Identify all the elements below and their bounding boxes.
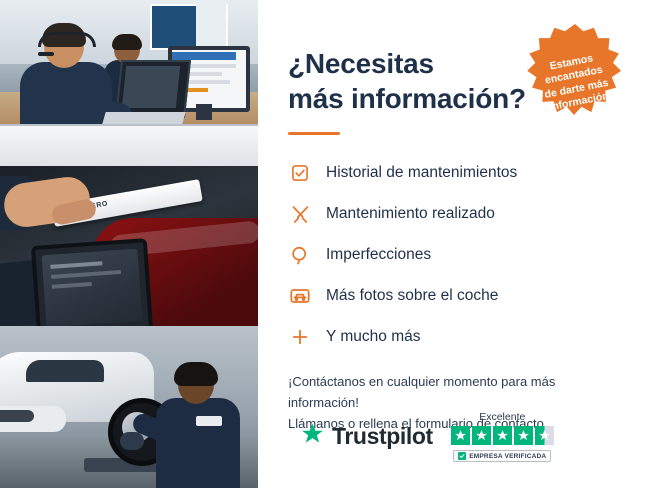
star-filled-2	[472, 426, 491, 445]
star-filled-3	[493, 426, 512, 445]
tablet-inspection-photo: AUTOHERO	[0, 166, 258, 326]
verified-label: EMPRESA VERIFICADA	[469, 453, 546, 460]
features-list: Historial de mantenimientos Mantenimient…	[288, 161, 624, 349]
list-item-label: Y mucho más	[326, 328, 420, 346]
list-item: Mantenimiento realizado	[288, 202, 624, 226]
list-item-label: Mantenimiento realizado	[326, 205, 495, 223]
verified-badge: EMPRESA VERIFICADA	[453, 450, 551, 462]
check-icon	[458, 452, 466, 460]
star-filled-4	[514, 426, 533, 445]
list-item-label: Imperfecciones	[326, 246, 431, 264]
trustpilot-rating: Trustpilot Excelente	[300, 411, 554, 462]
star-rating	[451, 426, 554, 445]
list-item-label: Historial de mantenimientos	[326, 164, 517, 182]
title-underline	[288, 132, 340, 135]
trustpilot-score-block: Excelente	[451, 411, 554, 462]
info-promo-card: AUTOHERO	[0, 0, 650, 488]
rating-label: Excelente	[479, 411, 525, 423]
list-item: Y mucho más	[288, 325, 624, 349]
star-filled-1	[451, 426, 470, 445]
checklist-icon	[288, 161, 312, 185]
magnifier-icon	[288, 243, 312, 267]
trustpilot-wordmark: Trustpilot	[332, 423, 433, 450]
dealership-advisor-photo	[0, 0, 258, 166]
list-item: Imperfecciones	[288, 243, 624, 267]
star-half-5	[535, 426, 554, 445]
photo-column: AUTOHERO	[0, 0, 258, 488]
status-badge: Estamos encantados de darte más informac…	[516, 22, 634, 140]
closing-line-1: ¡Contáctanos en cualquier momento para m…	[288, 374, 555, 410]
headline-line-1: ¿Necesitas	[288, 48, 434, 79]
list-item: Más fotos sobre el coche	[288, 284, 624, 308]
plus-icon	[288, 325, 312, 349]
car-photo-icon	[288, 284, 312, 308]
car-lift-mechanic-photo	[0, 326, 258, 488]
trustpilot-logo: Trustpilot	[300, 422, 433, 451]
tools-icon	[288, 202, 312, 226]
list-item-label: Más fotos sobre el coche	[326, 287, 498, 305]
list-item: Historial de mantenimientos	[288, 161, 624, 185]
trustpilot-star-icon	[300, 422, 325, 451]
